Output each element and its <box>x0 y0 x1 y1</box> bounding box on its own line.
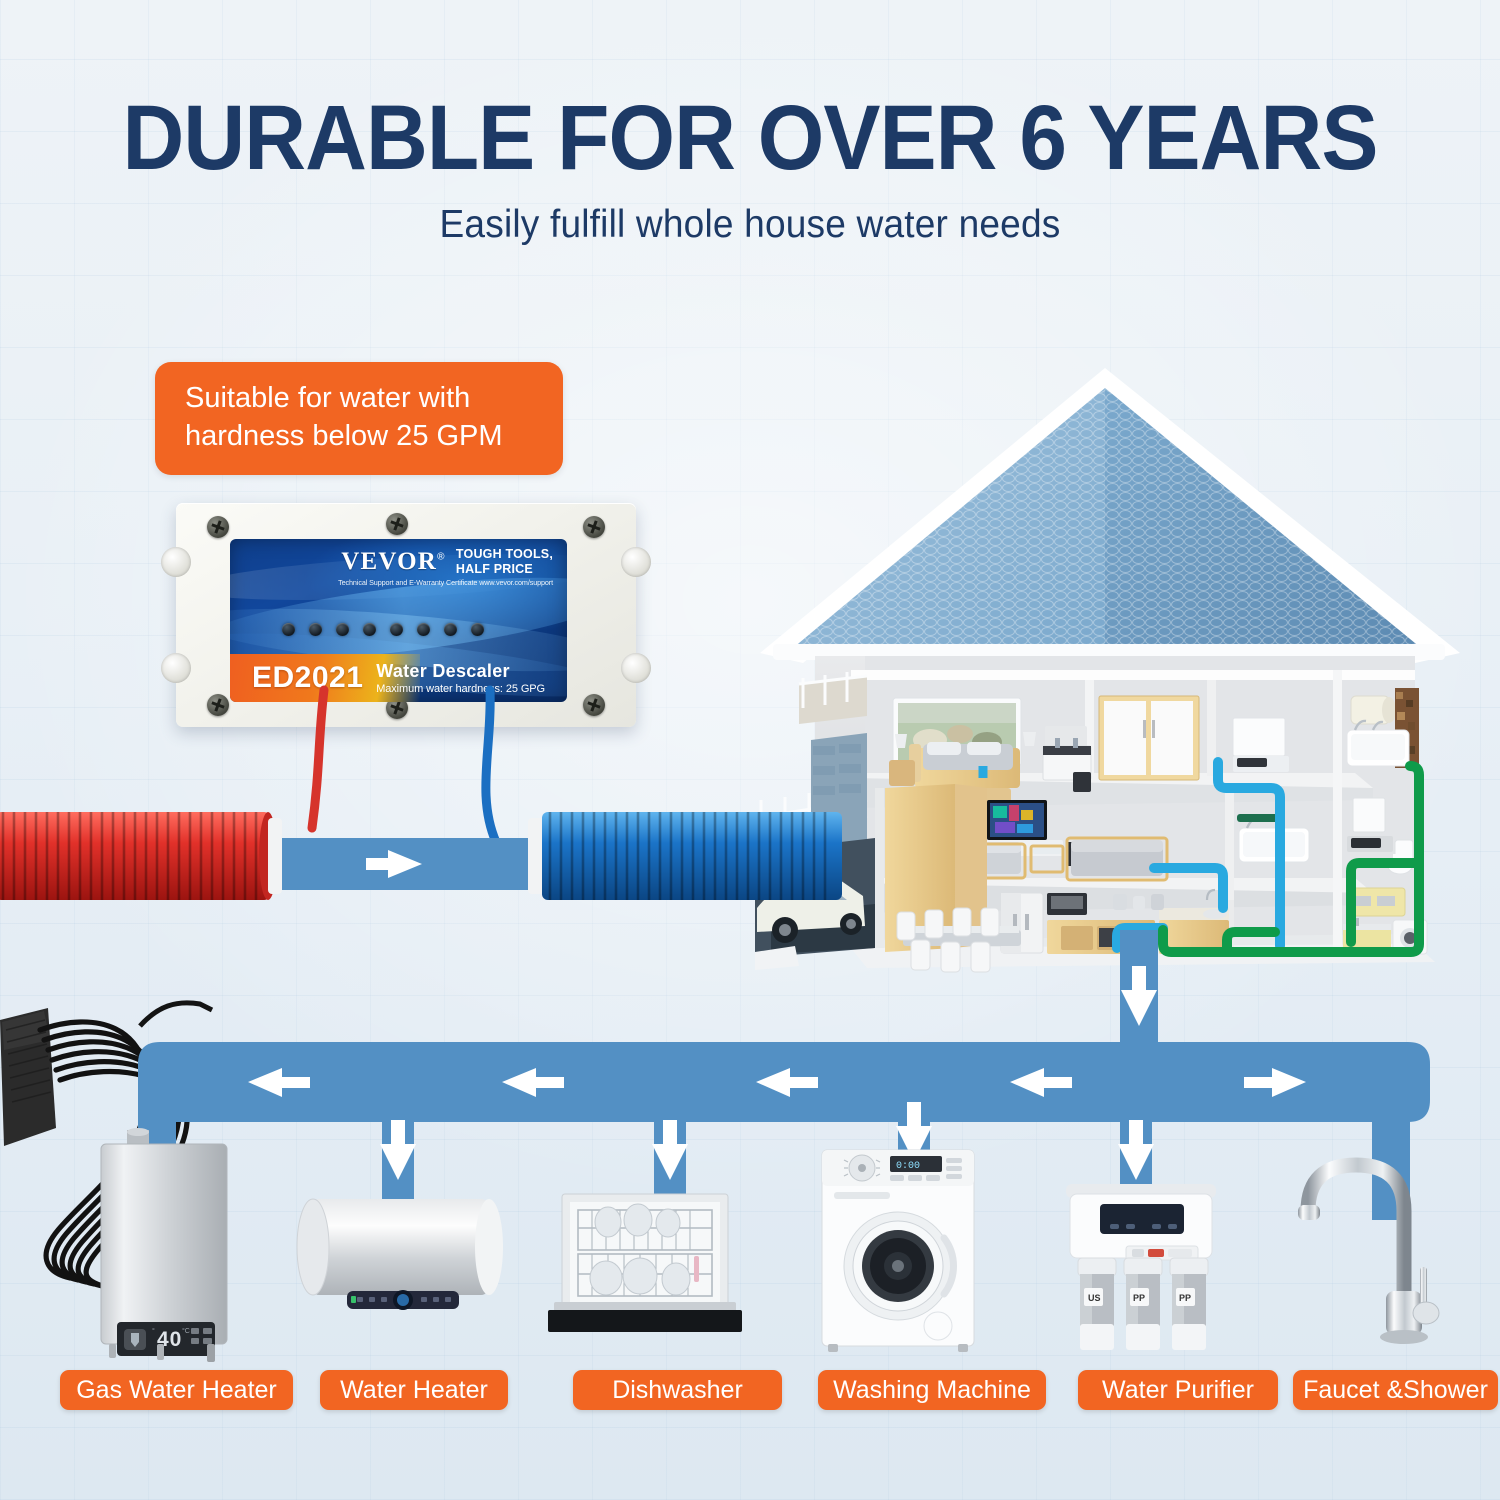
svg-text:PP: PP <box>1179 1293 1191 1303</box>
label-gas-water-heater: Gas Water Heater <box>60 1370 293 1410</box>
svg-text:PP: PP <box>1133 1293 1145 1303</box>
screw-top-center <box>386 513 408 535</box>
dishwasher-icon <box>548 1192 748 1332</box>
supply-line-section <box>0 700 860 920</box>
label-water-heater: Water Heater <box>320 1370 508 1410</box>
registered-mark: ® <box>437 552 444 563</box>
brand-block: VEVOR® TOUGH TOOLS, HALF PRICE Technical… <box>338 547 553 587</box>
distribution-manifold <box>120 930 1480 1190</box>
led-2 <box>309 623 322 636</box>
device-faceplate: VEVOR® TOUGH TOOLS, HALF PRICE Technical… <box>230 539 567 702</box>
led-7 <box>444 623 457 636</box>
page-subtitle: Easily fulfill whole house water needs <box>38 203 1463 247</box>
led-5 <box>390 623 403 636</box>
mount-hole-left-bottom <box>161 653 191 683</box>
led-1 <box>282 623 295 636</box>
led-4 <box>363 623 376 636</box>
led-6 <box>417 623 430 636</box>
svg-text:°C: °C <box>182 1327 190 1335</box>
washing-machine-icon: 0:00 <box>818 1148 978 1353</box>
model-number: ED2021 <box>252 661 363 695</box>
label-faucet-shower: Faucet &Shower <box>1293 1370 1498 1410</box>
callout-line-2: hardness below 25 GPM <box>185 417 541 455</box>
page-title: DURABLE FOR OVER 6 YEARS <box>53 92 1448 184</box>
led-3 <box>336 623 349 636</box>
product-name: Water Descaler <box>376 661 545 682</box>
water-purifier-icon: US PP PP <box>1060 1180 1225 1355</box>
svg-text:US: US <box>1088 1293 1101 1303</box>
screw-top-right <box>583 516 605 538</box>
callout-line-1: Suitable for water with <box>185 379 541 417</box>
support-line: Technical Support and E-Warranty Certifi… <box>338 578 553 587</box>
faucet-shower-icon <box>1290 1155 1460 1355</box>
mount-hole-right-top <box>621 547 651 577</box>
water-heater-icon <box>295 1195 505 1325</box>
svg-text:°: ° <box>152 1327 155 1335</box>
house-cutaway <box>755 348 1465 968</box>
tagline-line-1: TOUGH TOOLS, <box>456 547 553 561</box>
gas-water-heater-icon: 40 ° °C <box>95 1130 255 1370</box>
mount-hole-left-top <box>161 547 191 577</box>
hardness-callout: Suitable for water with hardness below 2… <box>155 362 563 475</box>
brand-name: VEVOR <box>341 548 437 576</box>
label-dishwasher: Dishwasher <box>573 1370 782 1410</box>
water-descaler-device: VEVOR® TOUGH TOOLS, HALF PRICE Technical… <box>176 503 636 727</box>
svg-text:0:00: 0:00 <box>896 1161 920 1172</box>
product-name-block: Water Descaler Maximum water hardness: 2… <box>376 661 545 695</box>
led-indicator-row <box>282 623 484 636</box>
tagline-line-2: HALF PRICE <box>456 562 533 576</box>
led-8 <box>471 623 484 636</box>
product-spec: Maximum water hardness: 25 GPG <box>376 683 545 695</box>
mount-hole-right-bottom <box>621 653 651 683</box>
brand-tagline: TOUGH TOOLS, HALF PRICE <box>456 547 553 577</box>
screw-top-left <box>207 516 229 538</box>
label-water-purifier: Water Purifier <box>1078 1370 1278 1410</box>
label-washing-machine: Washing Machine <box>818 1370 1046 1410</box>
